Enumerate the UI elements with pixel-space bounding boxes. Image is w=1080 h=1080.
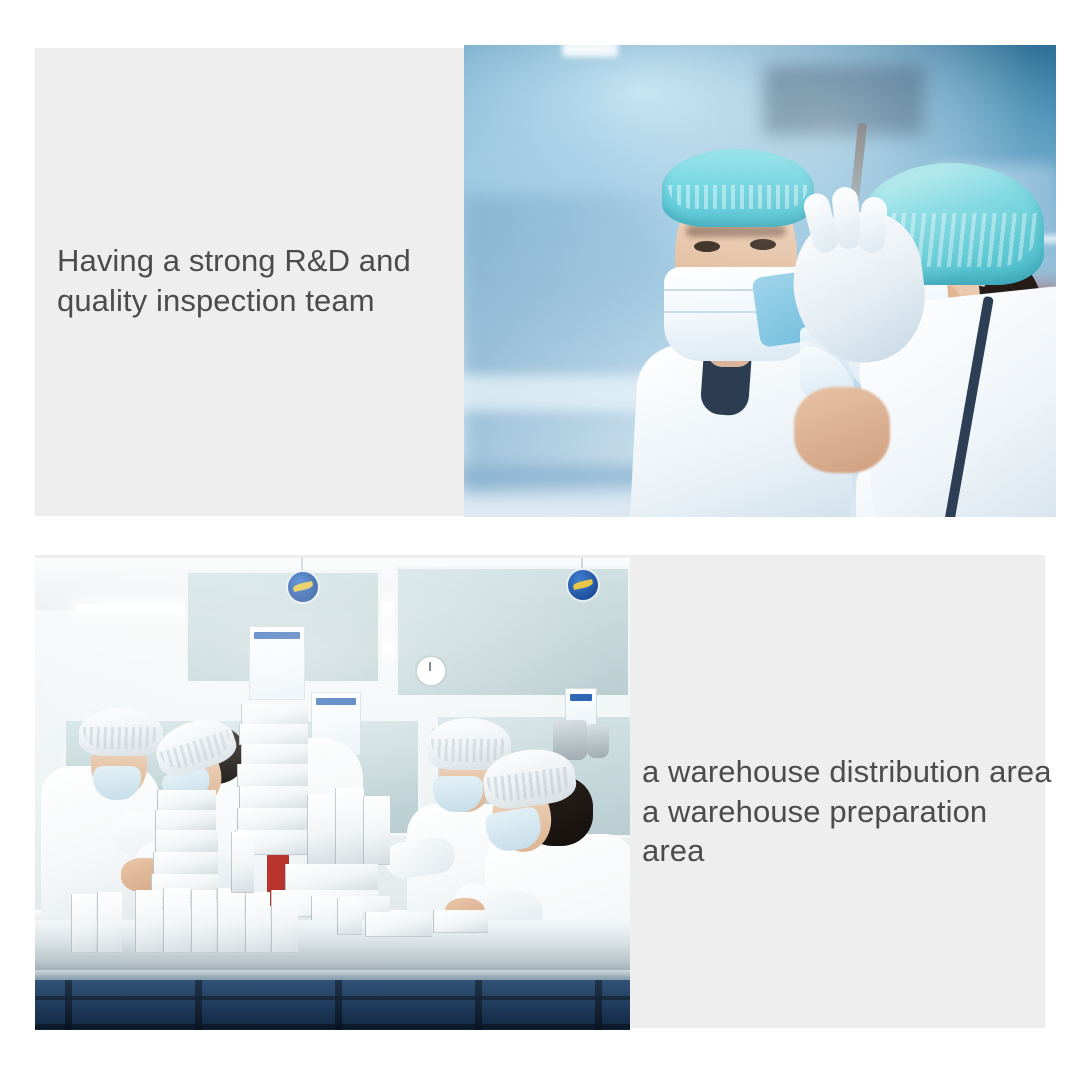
- carton-box: [163, 888, 190, 953]
- carton-box: [155, 830, 218, 853]
- carton-box: [363, 796, 390, 865]
- carton-box: [157, 790, 216, 811]
- table-rail: [35, 1024, 630, 1029]
- wall-notice-poster: [249, 626, 305, 700]
- carton-box: [237, 808, 308, 831]
- caption-rnd-quality: Having a strong R&D and quality inspecti…: [57, 241, 457, 320]
- lab-worker-left-hairnet: [662, 149, 814, 227]
- carton-box: [337, 898, 362, 935]
- carton-box: [155, 810, 216, 831]
- caption-warehouse-areas: a warehouse distribution area a warehous…: [642, 752, 1052, 871]
- table-underframe-area: [35, 980, 630, 1030]
- stainless-steel-table: [35, 920, 630, 976]
- warehouse-packing-photo: [35, 558, 630, 1030]
- wall-clock-icon: [415, 655, 447, 687]
- lab-inspection-photo: [464, 45, 1056, 517]
- lab-worker-left-eye-left: [694, 241, 720, 252]
- table-leg: [595, 980, 602, 1030]
- lab-ceiling-lamp-icon: [562, 45, 618, 57]
- carton-box: [433, 910, 488, 933]
- blue-circular-sign-icon: [286, 570, 320, 604]
- table-leg: [335, 980, 342, 1030]
- table-leg: [475, 980, 482, 1030]
- steel-container-icon: [587, 724, 609, 758]
- carton-box: [191, 890, 216, 953]
- carton-box: [241, 744, 308, 765]
- carton-box: [135, 890, 162, 953]
- carton-box: [71, 894, 96, 953]
- worker-1-hairnet: [79, 708, 163, 756]
- carton-box: [237, 764, 308, 787]
- page-root: Having a strong R&D and quality inspecti…: [0, 0, 1080, 1080]
- lab-worker-left-eye-right: [750, 239, 776, 250]
- carton-box: [239, 724, 308, 745]
- carton-box: [271, 890, 298, 953]
- carton-box: [239, 786, 308, 809]
- carton-box: [241, 704, 308, 725]
- lab-ceiling-shadow: [764, 65, 924, 135]
- carton-box: [307, 794, 336, 865]
- carton-box: [335, 788, 364, 865]
- carton-box: [245, 892, 270, 953]
- lab-glove-finger-3: [858, 196, 888, 254]
- blue-circular-sign-icon: [566, 568, 600, 602]
- lab-lower-hand: [794, 387, 890, 473]
- carton-box: [153, 852, 218, 875]
- table-rail: [35, 996, 630, 1000]
- table-leg: [65, 980, 72, 1030]
- carton-box: [231, 832, 254, 893]
- table-leg: [195, 980, 202, 1030]
- carton-box: [217, 888, 244, 953]
- carton-box: [285, 864, 378, 891]
- carton-box: [365, 912, 432, 937]
- ceiling-light-icon: [75, 604, 195, 611]
- carton-box: [97, 892, 122, 953]
